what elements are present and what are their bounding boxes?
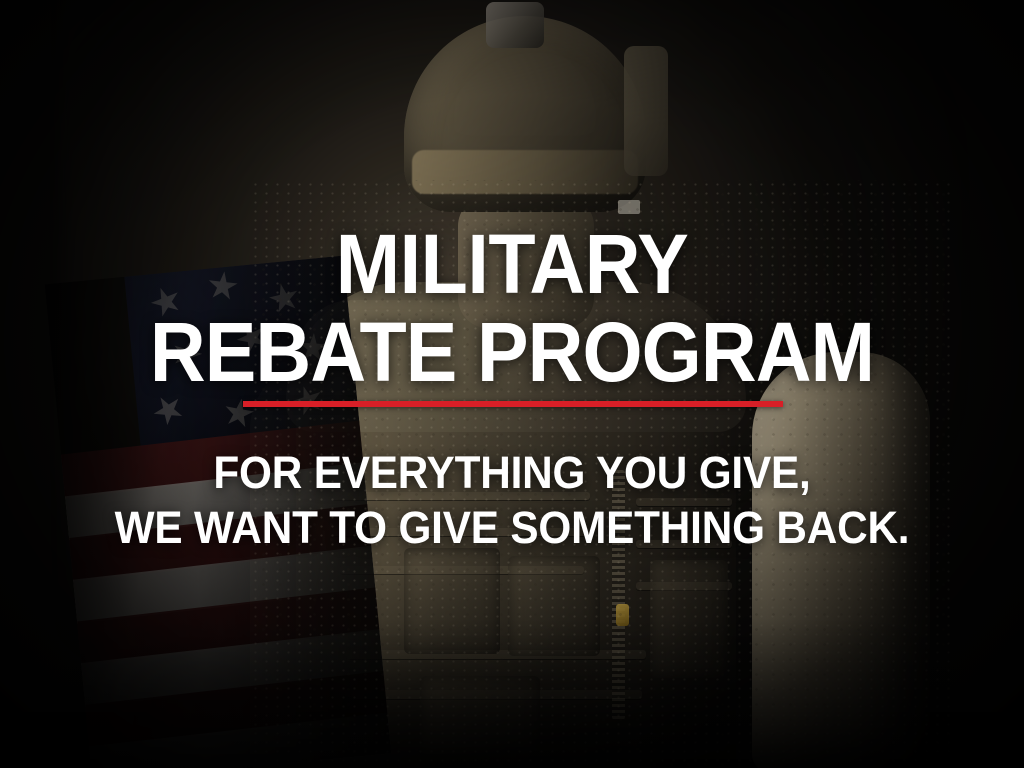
- headline-line-1: MILITARY: [41, 222, 983, 306]
- red-divider-rule: [243, 401, 783, 407]
- subheadline-line-2: WE WANT TO GIVE SOMETHING BACK.: [31, 505, 994, 550]
- military-rebate-poster: MILITARY REBATE PROGRAM FOR EVERYTHING Y…: [0, 0, 1024, 768]
- subheadline-line-1: FOR EVERYTHING YOU GIVE,: [31, 450, 994, 495]
- poster-content: MILITARY REBATE PROGRAM FOR EVERYTHING Y…: [0, 0, 1024, 768]
- headline-line-2: REBATE PROGRAM: [41, 310, 983, 394]
